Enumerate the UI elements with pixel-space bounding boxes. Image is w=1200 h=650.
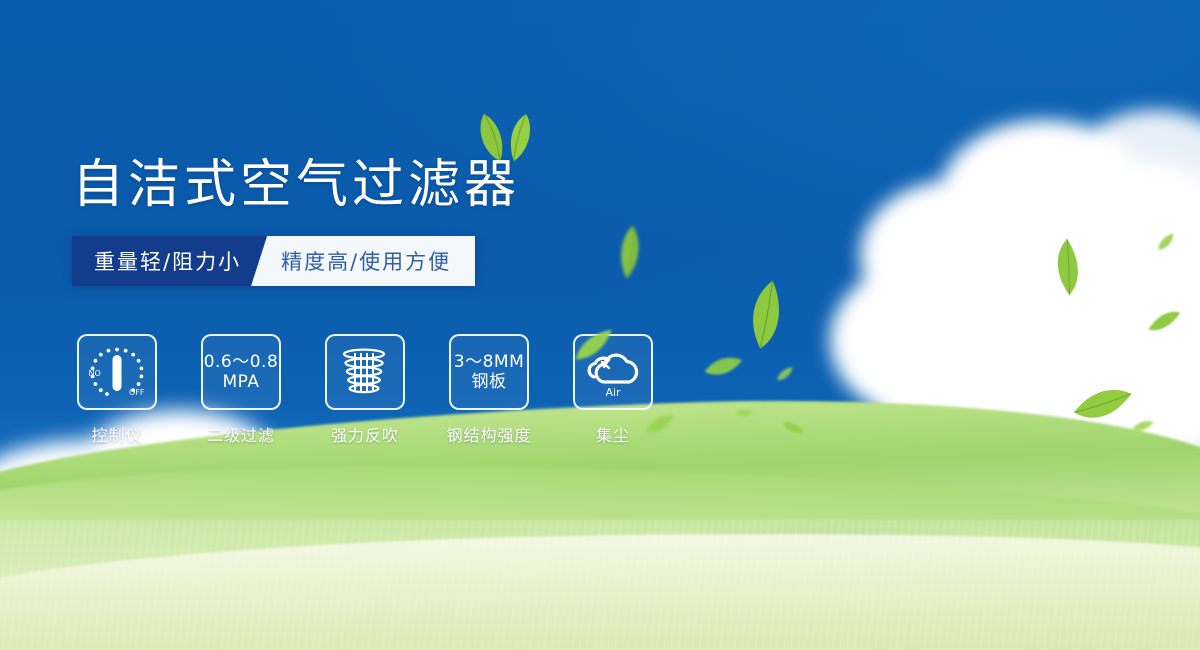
feature-item-pressure[interactable]: 0.6～0.8 MPA 二级过滤 bbox=[196, 334, 286, 446]
pressure-text-icon: 0.6～0.8 MPA bbox=[204, 352, 279, 392]
pressure-line-1: 0.6～0.8 bbox=[204, 352, 279, 372]
air-cloud-icon: Air bbox=[582, 344, 644, 400]
banner-content: 自洁式空气过滤器 重量轻/阻力小 精度高/使用方便 bbox=[0, 0, 1200, 650]
feature-item-steel[interactable]: 3～8MM 钢板 钢结构强度 bbox=[444, 334, 534, 446]
feature-item-backblow[interactable]: 强力反吹 bbox=[320, 334, 410, 446]
feature-icon-box bbox=[325, 334, 405, 410]
steel-line-2: 钢板 bbox=[454, 372, 524, 392]
feature-label: 钢结构强度 bbox=[446, 422, 531, 446]
page-title: 自洁式空气过滤器 bbox=[72, 142, 520, 217]
cloud-caption: Air bbox=[605, 386, 621, 399]
steel-plate-text-icon: 3～8MM 钢板 bbox=[454, 352, 524, 392]
control-dial-icon: NO OFF bbox=[85, 343, 149, 401]
filter-cartridge-rings-icon bbox=[336, 343, 394, 401]
steel-line-1: 3～8MM bbox=[454, 352, 524, 372]
product-banner: 自洁式空气过滤器 重量轻/阻力小 精度高/使用方便 bbox=[0, 0, 1200, 650]
feature-icon-box: 3～8MM 钢板 bbox=[449, 334, 529, 410]
feature-icon-box: Air bbox=[573, 334, 653, 410]
pressure-line-2: MPA bbox=[204, 372, 279, 392]
tagline-primary: 重量轻/阻力小 bbox=[72, 236, 267, 286]
svg-text:NO: NO bbox=[89, 369, 101, 378]
feature-label: 集尘 bbox=[596, 422, 630, 446]
tagline-secondary: 精度高/使用方便 bbox=[251, 236, 475, 286]
svg-text:OFF: OFF bbox=[129, 388, 145, 397]
feature-item-dust[interactable]: Air 集尘 bbox=[568, 334, 658, 446]
feature-label: 二级过滤 bbox=[207, 422, 275, 446]
tagline-bar: 重量轻/阻力小 精度高/使用方便 bbox=[72, 236, 475, 286]
feature-list: NO OFF 控制仪 0.6～0.8 MPA 二级过滤 bbox=[72, 334, 658, 446]
feature-icon-box: NO OFF bbox=[77, 334, 157, 410]
feature-icon-box: 0.6～0.8 MPA bbox=[201, 334, 281, 410]
feature-item-control[interactable]: NO OFF 控制仪 bbox=[72, 334, 162, 446]
feature-label: 控制仪 bbox=[91, 422, 142, 446]
feature-label: 强力反吹 bbox=[331, 422, 399, 446]
